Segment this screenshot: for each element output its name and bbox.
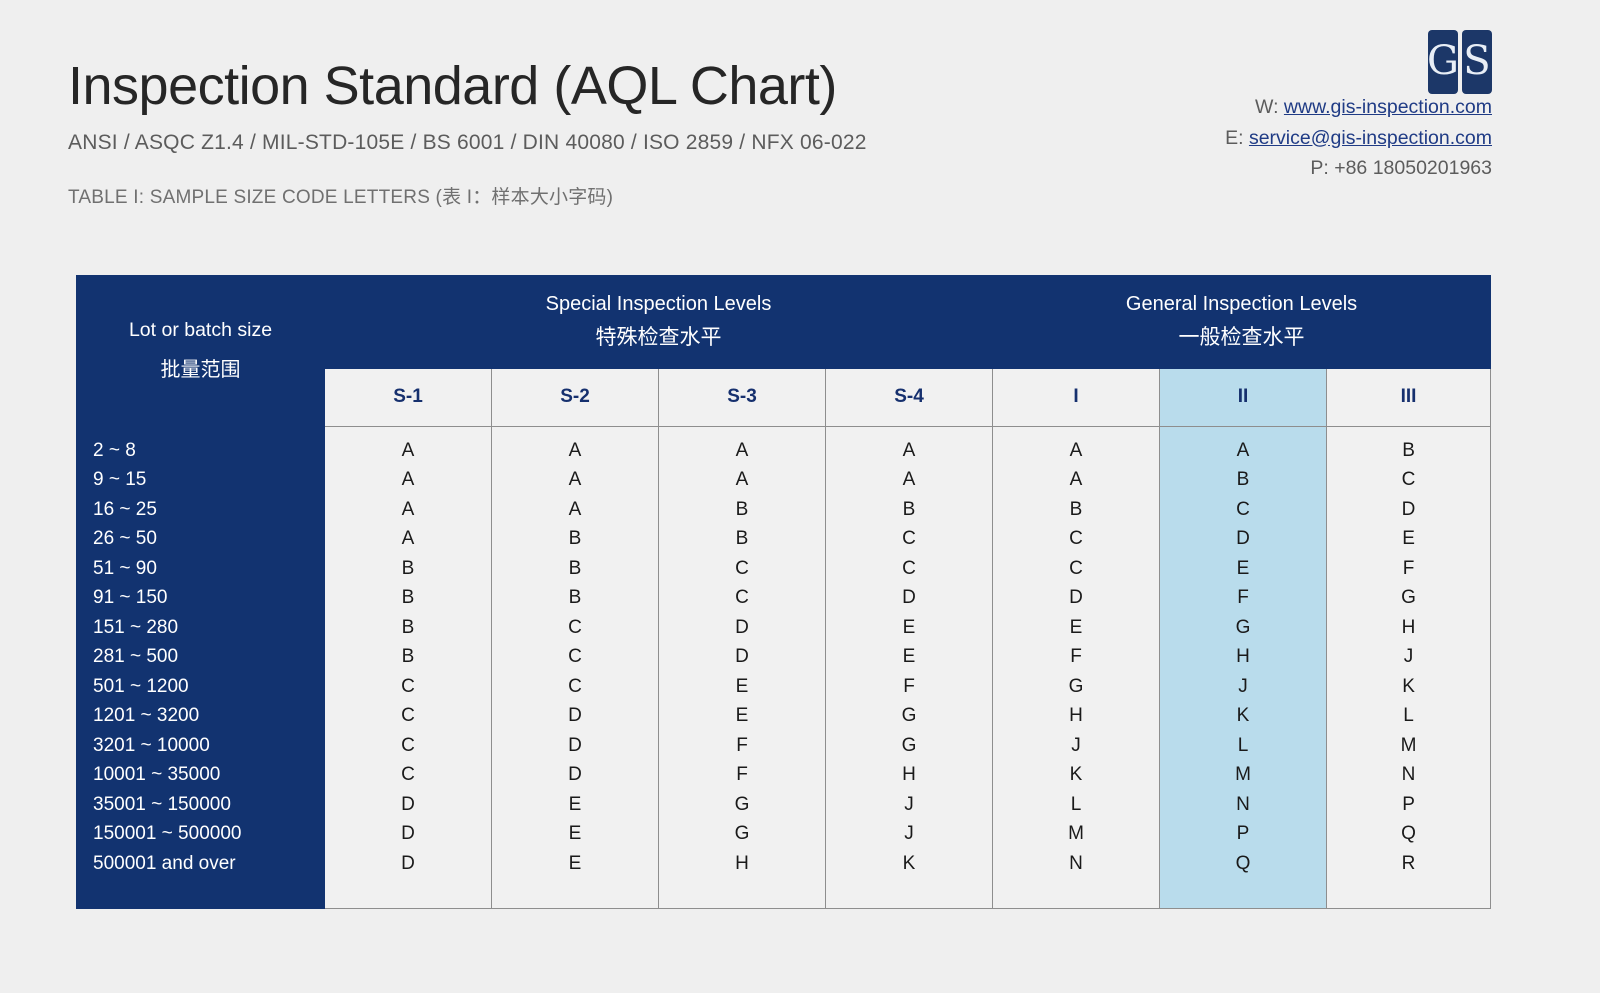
aql-sample-size-table: Lot or batch size 批量范围 Special Inspectio… <box>76 275 1491 909</box>
email-link[interactable]: service@gis-inspection.com <box>1249 127 1492 149</box>
code-cell: B <box>492 554 658 584</box>
code-cell: K <box>1160 701 1326 731</box>
code-cell: D <box>1160 524 1326 554</box>
code-cell: C <box>325 760 491 790</box>
code-cell: L <box>1160 731 1326 761</box>
code-cell: H <box>1160 642 1326 672</box>
code-cell: E <box>659 672 825 702</box>
email-label: E: <box>1225 127 1243 149</box>
contact-website-row: W: www.gis-inspection.com <box>1225 98 1492 118</box>
code-column-iii: BCDEFGHJKLMNPQR <box>1327 426 1491 908</box>
code-list-ii: ABCDEFGHJKLMNPQ <box>1160 436 1326 879</box>
code-cell: B <box>659 495 825 525</box>
code-column-s4: AABCCDEEFGGHJJK <box>826 426 993 908</box>
code-cell: C <box>993 554 1159 584</box>
code-cell: F <box>826 672 992 702</box>
code-list-s2: AAABBBCCCDDDEEE <box>492 436 658 879</box>
code-cell: G <box>826 731 992 761</box>
lot-size-column: 2 ~ 89 ~ 1516 ~ 2526 ~ 5051 ~ 9091 ~ 150… <box>77 426 325 908</box>
code-cell: G <box>659 819 825 849</box>
code-cell: C <box>325 672 491 702</box>
code-cell: L <box>1327 701 1490 731</box>
code-cell: A <box>492 465 658 495</box>
code-cell: G <box>993 672 1159 702</box>
code-cell: A <box>492 495 658 525</box>
code-cell: B <box>325 554 491 584</box>
code-cell: A <box>826 436 992 466</box>
code-cell: A <box>325 495 491 525</box>
code-cell: D <box>325 790 491 820</box>
group-general-label-en: General Inspection Levels <box>993 289 1490 321</box>
code-cell: D <box>659 613 825 643</box>
contact-email-row: E: service@gis-inspection.com <box>1225 129 1492 149</box>
code-list-s1: AAAABBBBCCCCDDD <box>325 436 491 879</box>
code-cell: A <box>659 436 825 466</box>
code-cell: A <box>659 465 825 495</box>
code-cell: C <box>826 524 992 554</box>
code-cell: N <box>993 849 1159 879</box>
code-cell: N <box>1160 790 1326 820</box>
code-cell: F <box>659 731 825 761</box>
code-column-s2: AAABBBCCCDDDEEE <box>492 426 659 908</box>
code-column-s3: AABBCCDDEEFFGGH <box>659 426 826 908</box>
column-header-s4[interactable]: S-4 <box>826 368 993 426</box>
column-header-i[interactable]: I <box>993 368 1160 426</box>
code-cell: M <box>993 819 1159 849</box>
code-cell: E <box>1327 524 1490 554</box>
lot-size-header-en: Lot or batch size <box>77 311 324 350</box>
code-cell: C <box>1327 465 1490 495</box>
code-cell: E <box>1160 554 1326 584</box>
code-cell: C <box>325 731 491 761</box>
group-header-general: General Inspection Levels 一般检查水平 <box>993 276 1491 369</box>
lot-size-list: 2 ~ 89 ~ 1516 ~ 2526 ~ 5051 ~ 9091 ~ 150… <box>93 436 324 879</box>
group-special-label-en: Special Inspection Levels <box>325 289 992 321</box>
code-cell: J <box>826 819 992 849</box>
code-cell: E <box>826 642 992 672</box>
code-cell: B <box>492 583 658 613</box>
code-column-ii: ABCDEFGHJKLMNPQ <box>1160 426 1327 908</box>
code-cell: D <box>659 642 825 672</box>
lot-size-item: 91 ~ 150 <box>93 583 324 613</box>
code-cell: D <box>325 819 491 849</box>
code-cell: Q <box>1327 819 1490 849</box>
code-cell: C <box>492 642 658 672</box>
code-cell: J <box>826 790 992 820</box>
code-cell: A <box>492 436 658 466</box>
code-cell: H <box>993 701 1159 731</box>
code-cell: B <box>325 613 491 643</box>
column-header-s2[interactable]: S-2 <box>492 368 659 426</box>
page-title: Inspection Standard (AQL Chart) <box>68 58 867 115</box>
lot-size-item: 35001 ~ 150000 <box>93 790 324 820</box>
code-cell: B <box>826 495 992 525</box>
lot-size-item: 16 ~ 25 <box>93 495 324 525</box>
code-cell: D <box>993 583 1159 613</box>
code-cell: C <box>659 583 825 613</box>
lot-size-header-cn: 批量范围 <box>77 350 324 390</box>
code-cell: C <box>492 613 658 643</box>
group-special-label-cn: 特殊检查水平 <box>325 321 992 354</box>
code-cell: G <box>826 701 992 731</box>
code-cell: E <box>492 849 658 879</box>
code-cell: A <box>993 436 1159 466</box>
code-cell: H <box>826 760 992 790</box>
contact-phone-row: P: +86 18050201963 <box>1225 159 1492 179</box>
code-cell: D <box>492 760 658 790</box>
code-cell: E <box>993 613 1159 643</box>
website-link[interactable]: www.gis-inspection.com <box>1284 96 1492 118</box>
code-cell: B <box>993 495 1159 525</box>
standards-list: ANSI / ASQC Z1.4 / MIL-STD-105E / BS 600… <box>68 131 867 155</box>
code-cell: K <box>993 760 1159 790</box>
lot-size-item: 150001 ~ 500000 <box>93 819 324 849</box>
code-cell: C <box>1160 495 1326 525</box>
code-cell: K <box>1327 672 1490 702</box>
code-list-s3: AABBCCDDEEFFGGH <box>659 436 825 879</box>
code-cell: B <box>1327 436 1490 466</box>
code-list-iii: BCDEFGHJKLMNPQR <box>1327 436 1490 879</box>
lot-size-item: 51 ~ 90 <box>93 554 324 584</box>
code-column-i: AABCCDEFGHJKLMN <box>993 426 1160 908</box>
table-group-header-row: Lot or batch size 批量范围 Special Inspectio… <box>77 276 1491 369</box>
code-cell: A <box>325 465 491 495</box>
lot-size-item: 501 ~ 1200 <box>93 672 324 702</box>
phone-value: +86 18050201963 <box>1334 157 1492 179</box>
code-cell: A <box>1160 436 1326 466</box>
group-general-label-cn: 一般检查水平 <box>993 321 1490 354</box>
code-cell: D <box>1327 495 1490 525</box>
table-caption: TABLE I: SAMPLE SIZE CODE LETTERS (表 I：样… <box>68 182 867 209</box>
code-cell: H <box>659 849 825 879</box>
phone-label: P: <box>1310 157 1328 179</box>
code-list-i: AABCCDEFGHJKLMN <box>993 436 1159 879</box>
code-cell: J <box>1160 672 1326 702</box>
title-block: Inspection Standard (AQL Chart) ANSI / A… <box>68 58 867 209</box>
group-header-special: Special Inspection Levels 特殊检查水平 <box>325 276 993 369</box>
code-cell: A <box>325 436 491 466</box>
code-cell: M <box>1327 731 1490 761</box>
code-cell: B <box>325 642 491 672</box>
code-cell: M <box>1160 760 1326 790</box>
lot-size-item: 500001 and over <box>93 849 324 879</box>
lot-size-item: 2 ~ 8 <box>93 436 324 466</box>
code-cell: E <box>826 613 992 643</box>
table-body-row: 2 ~ 89 ~ 1516 ~ 2526 ~ 5051 ~ 9091 ~ 150… <box>77 426 1491 908</box>
lot-size-item: 26 ~ 50 <box>93 524 324 554</box>
code-cell: E <box>492 819 658 849</box>
code-cell: F <box>1327 554 1490 584</box>
code-cell: G <box>659 790 825 820</box>
code-cell: E <box>492 790 658 820</box>
lot-size-item: 9 ~ 15 <box>93 465 324 495</box>
code-cell: J <box>1327 642 1490 672</box>
code-cell: A <box>325 524 491 554</box>
website-label: W: <box>1255 96 1278 118</box>
code-cell: B <box>492 524 658 554</box>
lot-size-item: 151 ~ 280 <box>93 613 324 643</box>
code-cell: A <box>826 465 992 495</box>
lot-size-item: 281 ~ 500 <box>93 642 324 672</box>
lot-size-item: 1201 ~ 3200 <box>93 701 324 731</box>
code-cell: C <box>659 554 825 584</box>
code-column-s1: AAAABBBBCCCCDDD <box>325 426 492 908</box>
code-cell: E <box>659 701 825 731</box>
code-cell: K <box>826 849 992 879</box>
page-header: Inspection Standard (AQL Chart) ANSI / A… <box>0 0 1600 265</box>
code-cell: C <box>492 672 658 702</box>
lot-size-item: 10001 ~ 35000 <box>93 760 324 790</box>
code-cell: F <box>659 760 825 790</box>
code-cell: D <box>325 849 491 879</box>
column-header-iii[interactable]: III <box>1327 368 1491 426</box>
lot-size-header: Lot or batch size 批量范围 <box>77 276 325 427</box>
code-cell: C <box>325 701 491 731</box>
code-cell: N <box>1327 760 1490 790</box>
column-header-ii[interactable]: II <box>1160 368 1327 426</box>
code-cell: C <box>993 524 1159 554</box>
code-cell: G <box>1160 613 1326 643</box>
code-cell: D <box>492 731 658 761</box>
code-cell: G <box>1327 583 1490 613</box>
code-cell: R <box>1327 849 1490 879</box>
contact-block: W: www.gis-inspection.com E: service@gis… <box>1225 28 1492 190</box>
lot-size-item: 3201 ~ 10000 <box>93 731 324 761</box>
code-cell: B <box>1160 465 1326 495</box>
code-cell: B <box>659 524 825 554</box>
code-cell: D <box>492 701 658 731</box>
code-cell: P <box>1160 819 1326 849</box>
code-cell: Q <box>1160 849 1326 879</box>
code-cell: F <box>1160 583 1326 613</box>
code-cell: L <box>993 790 1159 820</box>
code-cell: F <box>993 642 1159 672</box>
code-cell: P <box>1327 790 1490 820</box>
code-cell: H <box>1327 613 1490 643</box>
code-cell: A <box>993 465 1159 495</box>
column-header-s3[interactable]: S-3 <box>659 368 826 426</box>
code-list-s4: AABCCDEEFGGHJJK <box>826 436 992 879</box>
column-header-s1[interactable]: S-1 <box>325 368 492 426</box>
code-cell: D <box>826 583 992 613</box>
code-cell: C <box>826 554 992 584</box>
code-cell: J <box>993 731 1159 761</box>
code-cell: B <box>325 583 491 613</box>
